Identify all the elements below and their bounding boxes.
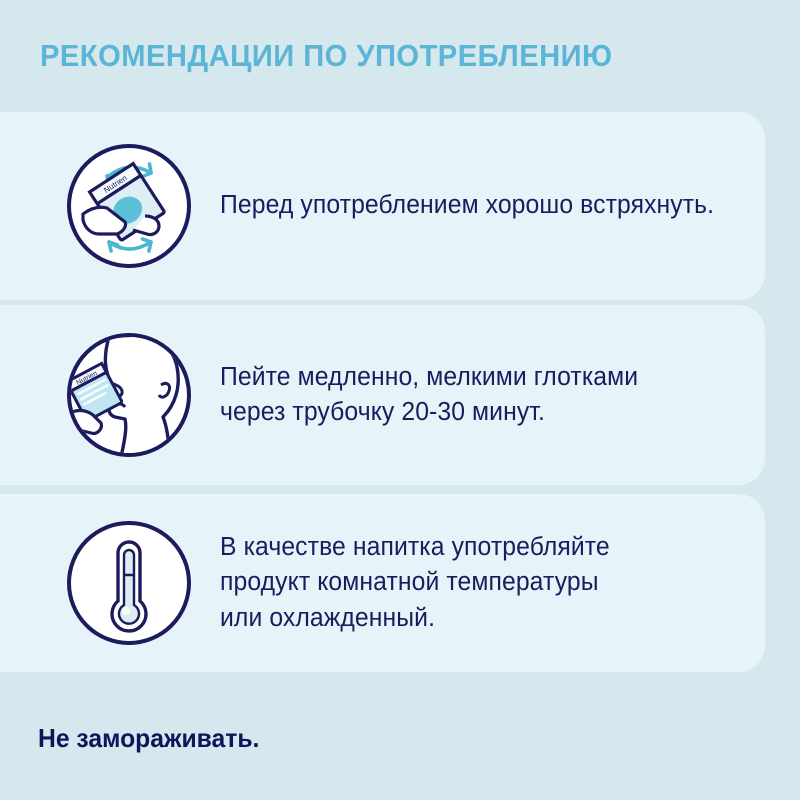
thermometer-icon: [65, 519, 193, 647]
footer-note: Не замораживать.: [38, 723, 259, 754]
recommendation-card-sip: Nutrien Пейте медленно, мелкими глотками…: [0, 305, 765, 485]
recommendation-card-shake: Nutrien Перед употреблением хорошо встря…: [0, 112, 765, 300]
page-title: РЕКОМЕНДАЦИИ ПО УПОТРЕБЛЕНИЮ: [40, 38, 613, 74]
drink-through-straw-icon: Nutrien: [65, 331, 193, 459]
shake-carton-icon: Nutrien: [65, 142, 193, 270]
recommendation-card-temperature: В качестве напитка употребляйте продукт …: [0, 494, 765, 672]
recommendation-text: В качестве напитка употребляйте продукт …: [220, 530, 610, 636]
recommendation-text: Пейте медленно, мелкими глотками через т…: [220, 360, 638, 430]
recommendation-text: Перед употреблением хорошо встряхнуть.: [220, 188, 714, 223]
